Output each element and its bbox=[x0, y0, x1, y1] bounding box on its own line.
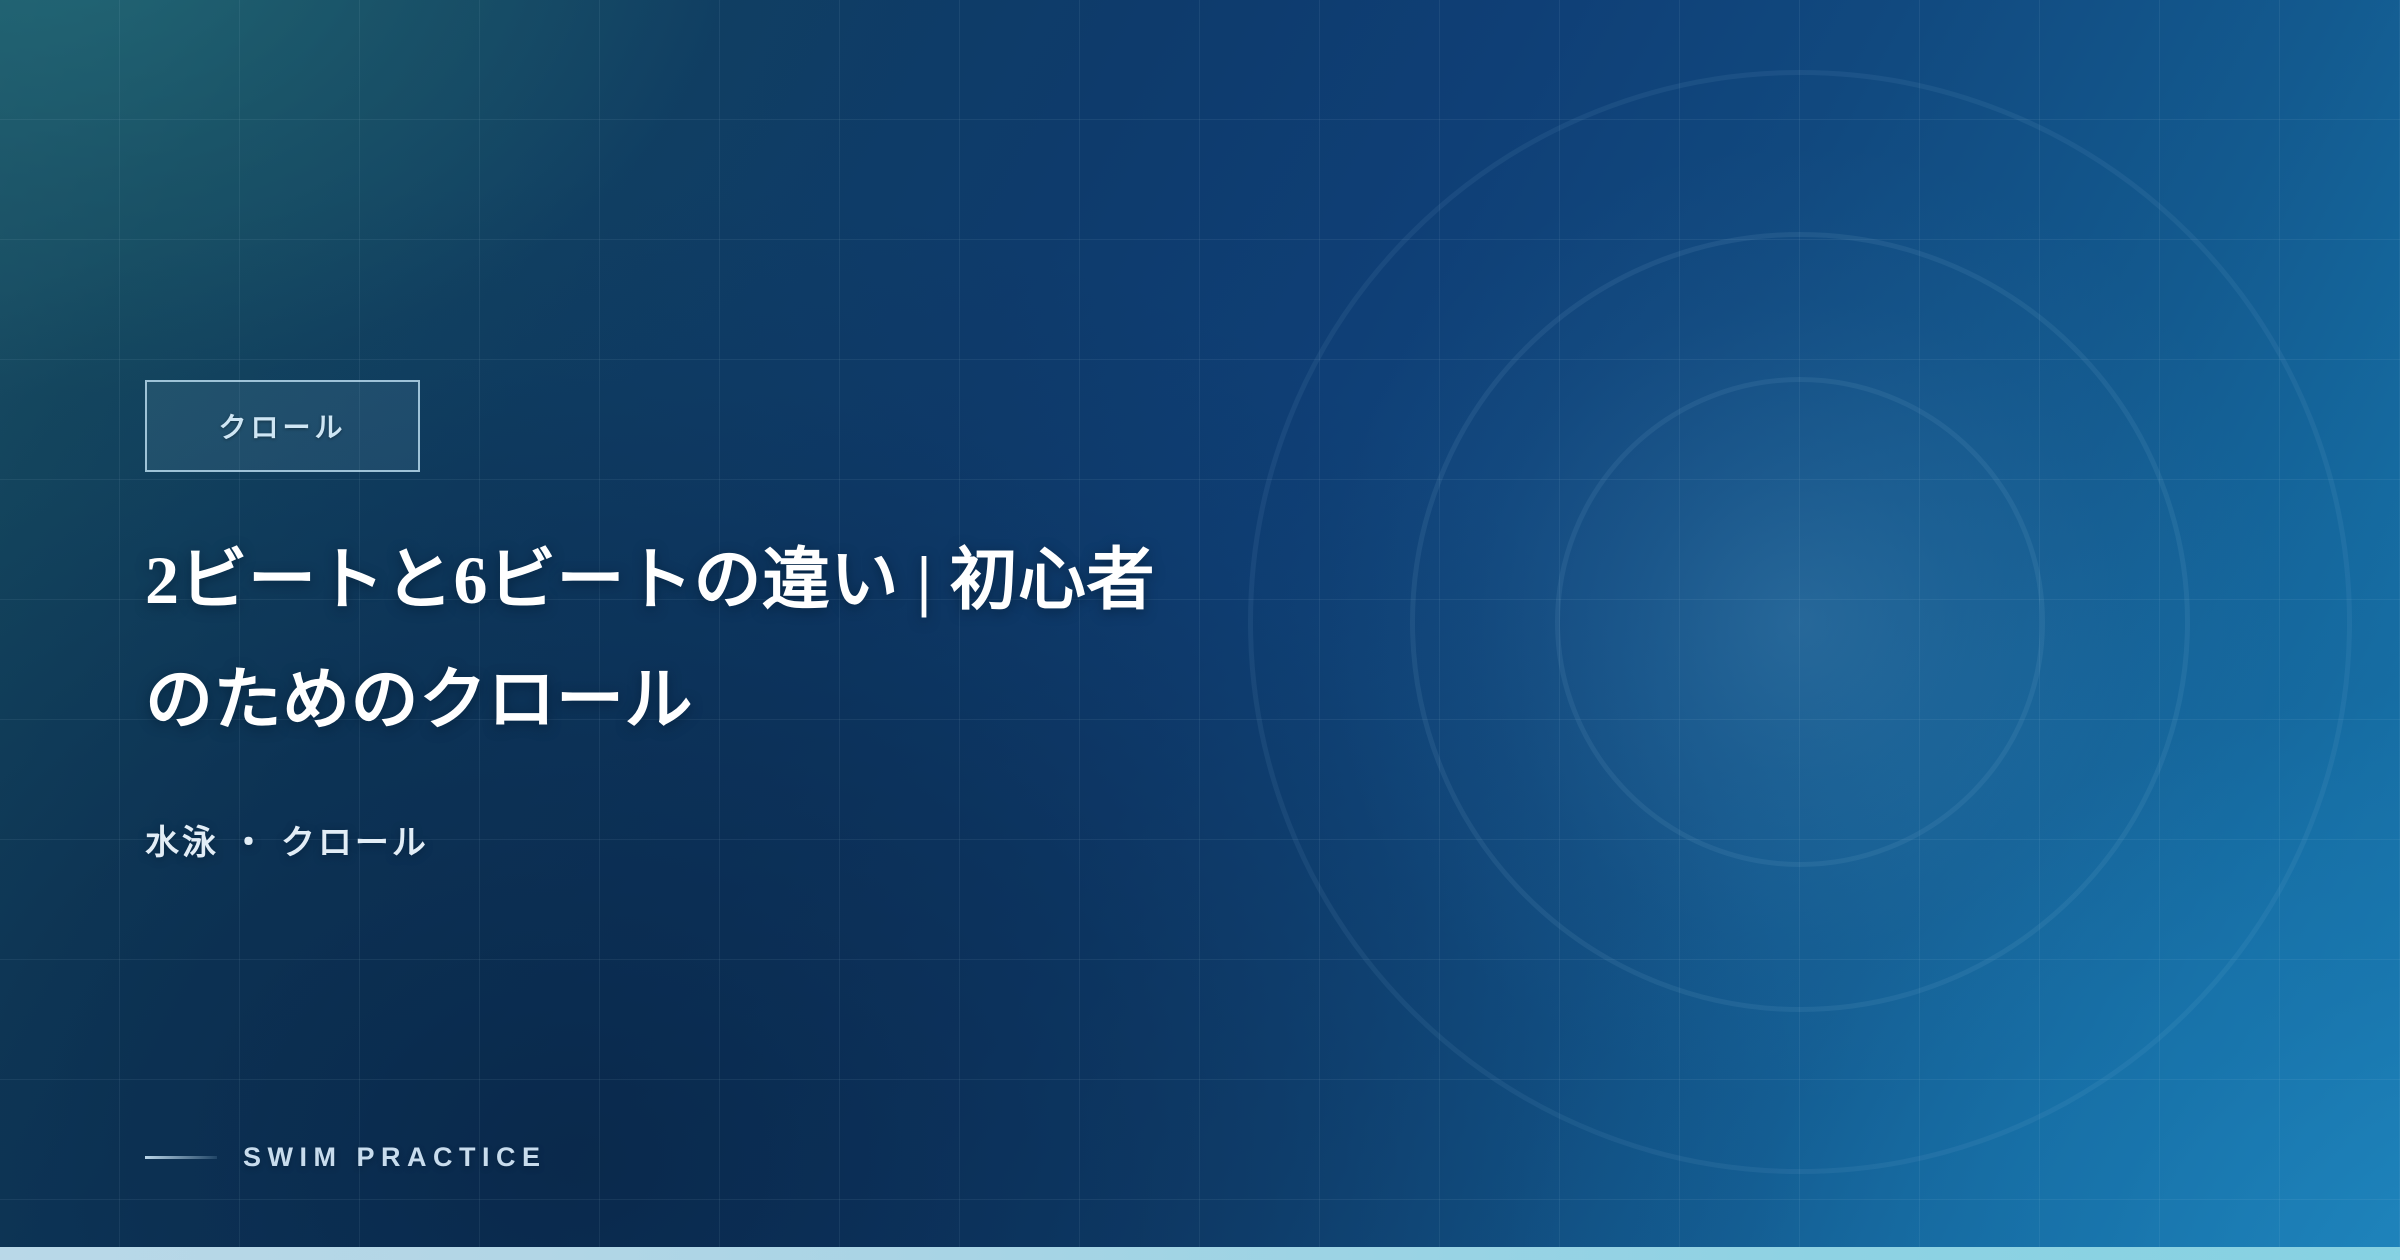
page-title: 2ビートと6ビートの違い | 初心者 のためのクロール bbox=[145, 520, 1525, 760]
footer-brand-label: SWIM PRACTICE bbox=[243, 1142, 547, 1173]
category-badge-label: クロール bbox=[218, 406, 346, 446]
footer-brand: SWIM PRACTICE bbox=[145, 1142, 547, 1173]
hero-content: クロール 2ビートと6ビートの違い | 初心者 のためのクロール 水泳 ・ クロ… bbox=[145, 0, 1645, 1260]
category-badge[interactable]: クロール bbox=[145, 380, 420, 472]
bottom-accent-bar bbox=[0, 1247, 2400, 1260]
page-subtitle: 水泳 ・ クロール bbox=[145, 815, 429, 864]
hero-card: クロール 2ビートと6ビートの違い | 初心者 のためのクロール 水泳 ・ クロ… bbox=[0, 0, 2400, 1260]
horizontal-rule-icon bbox=[145, 1156, 217, 1159]
